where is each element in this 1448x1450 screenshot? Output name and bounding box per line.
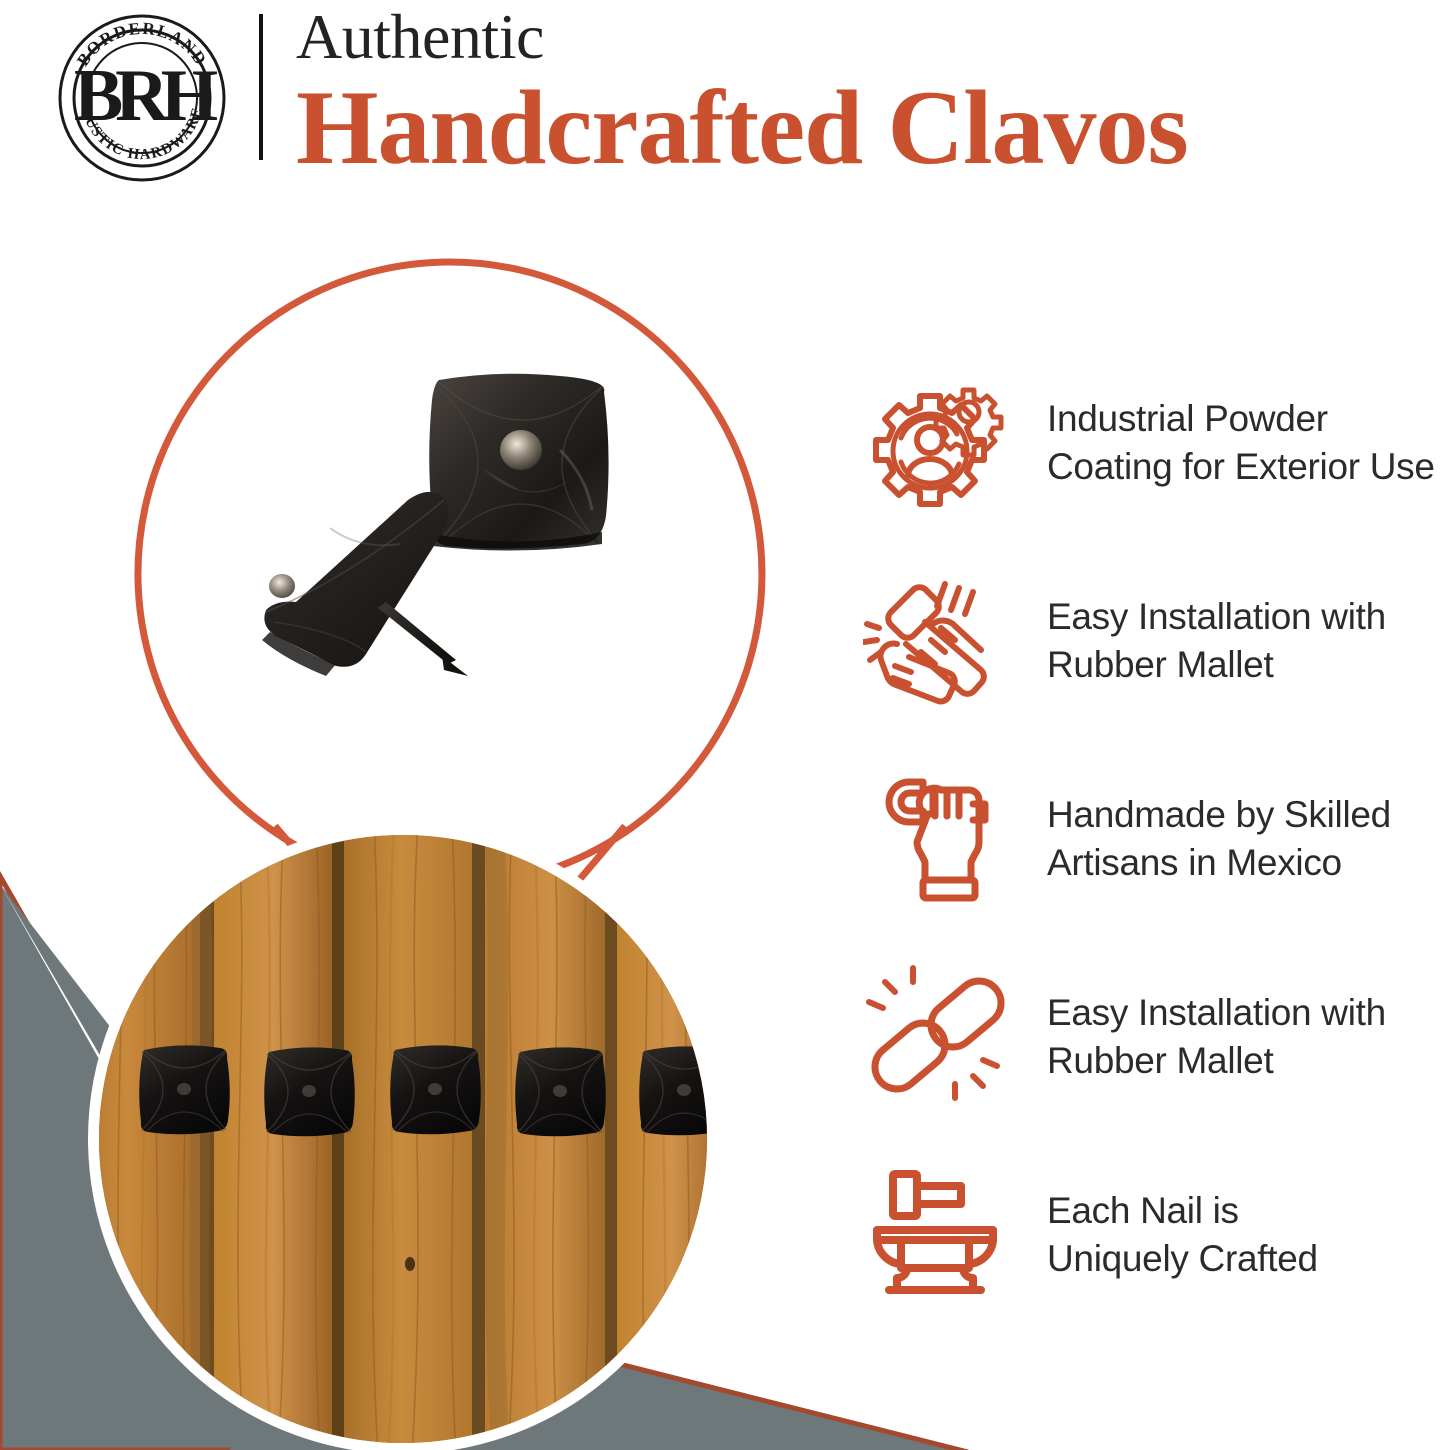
feature-line-1a: Industrial Powder bbox=[1047, 395, 1445, 443]
hand-mallet-icon bbox=[855, 566, 1020, 716]
fist-wrench-icon bbox=[855, 764, 1020, 914]
feature-line-2a: Easy Installation with bbox=[1047, 593, 1445, 641]
feature-item-4: Easy Installation with Rubber Mallet bbox=[855, 962, 1445, 1112]
feature-label-5: Each Nail is Uniquely Crafted bbox=[1020, 1187, 1445, 1283]
gear-person-icon bbox=[855, 368, 1020, 518]
page-title-line-1: Authentic bbox=[296, 2, 1436, 72]
feature-line-2b: Rubber Mallet bbox=[1047, 641, 1445, 689]
logo-monogram-text: BRH bbox=[74, 55, 218, 137]
feature-item-3: Handmade by Skilled Artisans in Mexico bbox=[855, 764, 1445, 914]
infographic-page: BORDERLAND RUSTIC HARDWARE BRH Authentic… bbox=[0, 0, 1448, 1450]
feature-line-3a: Handmade by Skilled bbox=[1047, 791, 1445, 839]
feature-label-4: Easy Installation with Rubber Mallet bbox=[1020, 989, 1445, 1085]
feature-line-4a: Easy Installation with bbox=[1047, 989, 1445, 1037]
feature-line-4b: Rubber Mallet bbox=[1047, 1037, 1445, 1085]
door-photo-circle bbox=[88, 824, 718, 1450]
brand-logo-icon: BORDERLAND RUSTIC HARDWARE BRH bbox=[56, 12, 228, 184]
feature-item-5: Each Nail is Uniquely Crafted bbox=[855, 1160, 1445, 1310]
feature-line-5a: Each Nail is bbox=[1047, 1187, 1445, 1235]
wooden-door-photo bbox=[88, 824, 718, 1450]
page-title: Authentic Handcrafted Clavos bbox=[296, 2, 1436, 184]
chain-link-icon bbox=[855, 962, 1020, 1112]
feature-line-1b: Coating for Exterior Use bbox=[1047, 443, 1445, 491]
feature-item-2: Easy Installation with Rubber Mallet bbox=[855, 566, 1445, 716]
page-header: BORDERLAND RUSTIC HARDWARE BRH Authentic… bbox=[0, 0, 1448, 195]
clavos-product-photo bbox=[230, 364, 690, 754]
page-title-line-2: Handcrafted Clavos bbox=[296, 72, 1436, 184]
header-divider bbox=[259, 14, 263, 160]
feature-label-2: Easy Installation with Rubber Mallet bbox=[1020, 593, 1445, 689]
feature-line-5b: Uniquely Crafted bbox=[1047, 1235, 1445, 1283]
feature-item-1: Industrial Powder Coating for Exterior U… bbox=[855, 368, 1445, 518]
feature-label-3: Handmade by Skilled Artisans in Mexico bbox=[1020, 791, 1445, 887]
feature-label-1: Industrial Powder Coating for Exterior U… bbox=[1020, 395, 1445, 491]
feature-line-3b: Artisans in Mexico bbox=[1047, 839, 1445, 887]
anvil-hammer-icon bbox=[855, 1160, 1020, 1310]
